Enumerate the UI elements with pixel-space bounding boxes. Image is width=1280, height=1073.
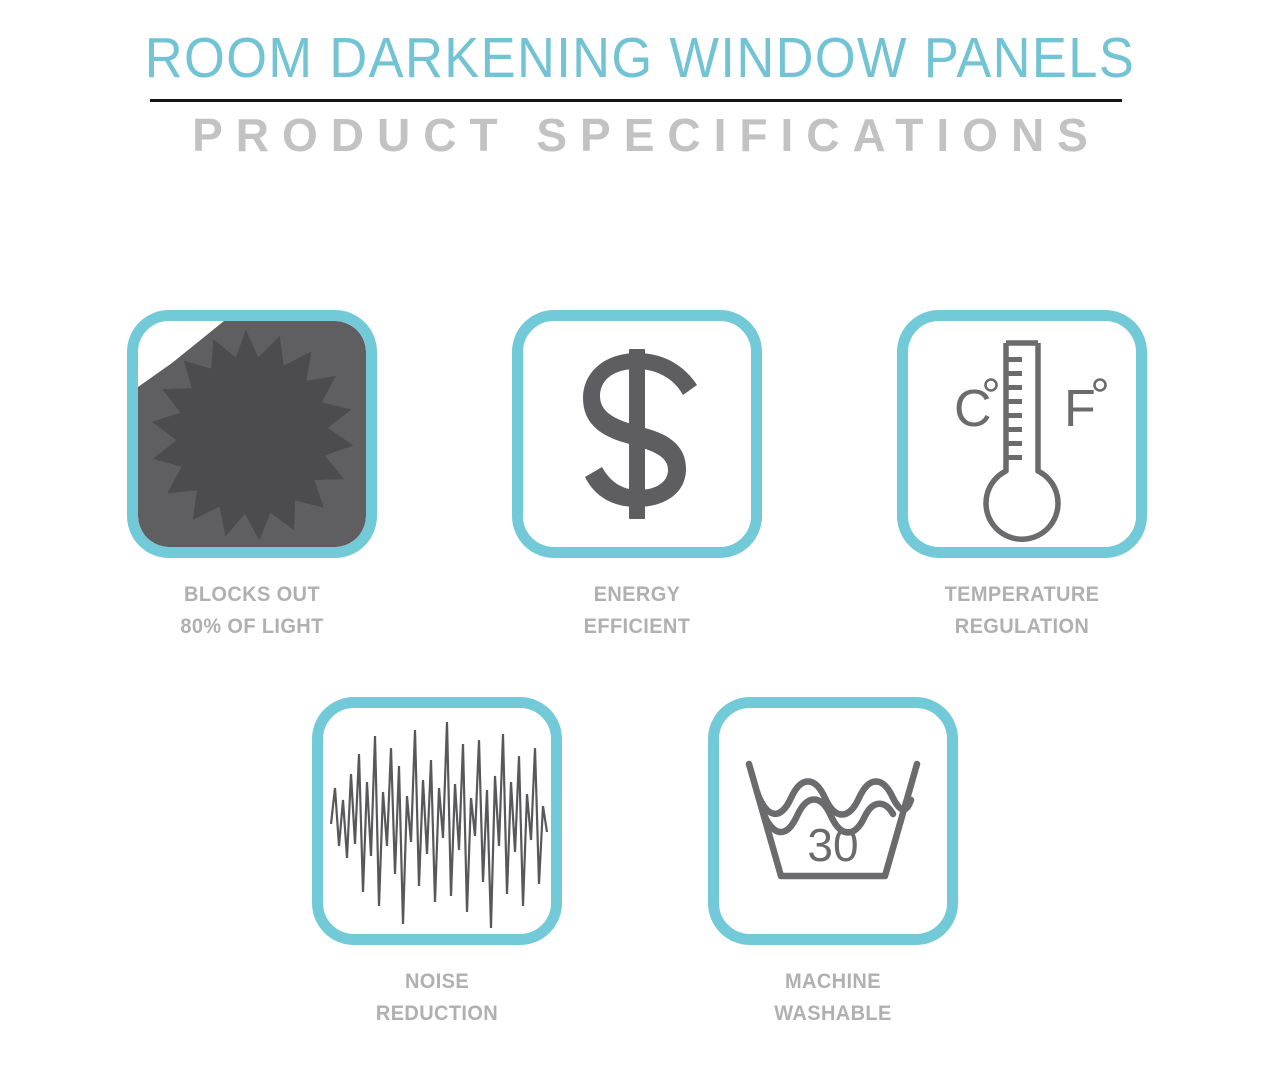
feature-tile [127, 310, 377, 558]
dollar-sign-icon [523, 321, 751, 547]
caption-line-2: WASHABLE [689, 997, 977, 1029]
sun-blocked-icon [138, 321, 366, 547]
caption-line-1: BLOCKS OUT [108, 578, 396, 610]
feature-tile: 30 [708, 697, 958, 945]
feature-noise-reduction[interactable]: NOISE REDUCTION [312, 697, 562, 945]
sound-waveform-icon [323, 708, 551, 934]
feature-caption: TEMPERATURE REGULATION [878, 578, 1166, 642]
caption-line-2: 80% OF LIGHT [108, 610, 396, 642]
fahrenheit-degree-icon [1095, 380, 1106, 391]
caption-line-1: ENERGY [493, 578, 781, 610]
fahrenheit-label: F [1064, 380, 1096, 438]
feature-temperature-regulation[interactable]: C F TEMPERATURE REGULATION [897, 310, 1147, 558]
feature-tile [312, 697, 562, 945]
wash-tub-icon: 30 [719, 708, 947, 934]
feature-caption: NOISE REDUCTION [293, 965, 581, 1029]
feature-caption: MACHINE WASHABLE [689, 965, 977, 1029]
caption-line-1: TEMPERATURE [878, 578, 1166, 610]
feature-energy-efficient[interactable]: ENERGY EFFICIENT [512, 310, 762, 558]
feature-tile [512, 310, 762, 558]
caption-line-2: REDUCTION [293, 997, 581, 1029]
feature-blocks-out-light[interactable]: BLOCKS OUT 80% OF LIGHT [127, 310, 377, 558]
wash-temperature-label: 30 [807, 819, 858, 871]
feature-caption: ENERGY EFFICIENT [493, 578, 781, 642]
caption-line-2: EFFICIENT [493, 610, 781, 642]
thermometer-icon: C F [908, 321, 1136, 547]
feature-tile: C F [897, 310, 1147, 558]
caption-line-1: NOISE [293, 965, 581, 997]
caption-line-1: MACHINE [689, 965, 977, 997]
feature-machine-washable[interactable]: 30 MACHINE WASHABLE [708, 697, 958, 945]
feature-grid: BLOCKS OUT 80% OF LIGHT ENERGY EFFICIENT [0, 0, 1280, 1073]
caption-line-2: REGULATION [878, 610, 1166, 642]
feature-caption: BLOCKS OUT 80% OF LIGHT [108, 578, 396, 642]
